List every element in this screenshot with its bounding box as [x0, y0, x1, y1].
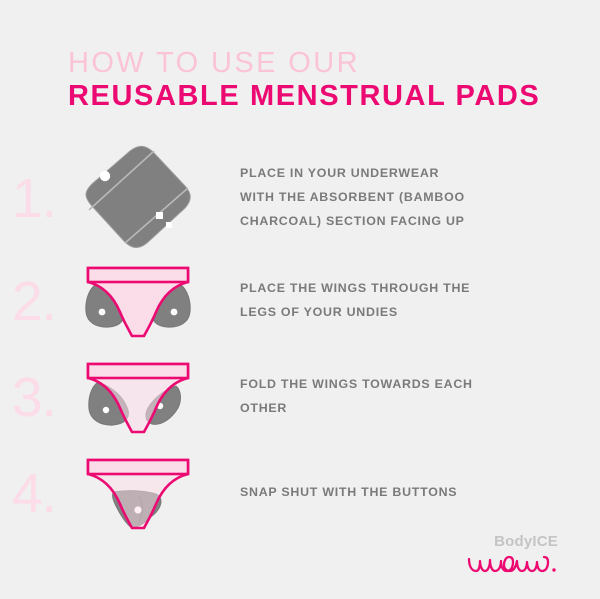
- step-item: 1. PLACE IN YOUR UNDERWEAR WITH THE: [0, 143, 600, 253]
- step-number: 2.: [0, 274, 58, 329]
- step-number: 1.: [0, 171, 58, 226]
- woman-script-icon: [466, 551, 558, 577]
- folded-pad-diamond-icon: [78, 144, 198, 252]
- step-illustration-wings-folding: [58, 349, 218, 445]
- undies-wings-folding-icon: [76, 356, 200, 438]
- step-illustration-wings-open: [58, 253, 218, 349]
- step-item: 3. FOLD THE WINGS TOWARDS EACH OTHE: [0, 349, 600, 445]
- steps-list: 1. PLACE IN YOUR UNDERWEAR WITH THE: [0, 143, 600, 541]
- brand-name: BodyICE: [466, 534, 558, 551]
- title-line-1: HOW TO USE OUR: [68, 48, 540, 78]
- step-illustration-wings-snapped: [58, 445, 218, 541]
- step-text-line: PLACE IN YOUR UNDERWEAR: [240, 162, 580, 186]
- step-text-line: PLACE THE WINGS THROUGH THE: [240, 277, 580, 301]
- step-text-line: WITH THE ABSORBENT (BAMBOO: [240, 186, 580, 210]
- step-text: PLACE IN YOUR UNDERWEAR WITH THE ABSORBE…: [218, 162, 600, 233]
- step-text: FOLD THE WINGS TOWARDS EACH OTHER: [218, 373, 600, 421]
- step-item: 4. SNAP SHUT WITH THE BUTTONS: [0, 445, 600, 541]
- step-number: 4.: [0, 466, 58, 521]
- brand-script-wordmark: [466, 551, 558, 577]
- undies-wings-open-icon: [76, 260, 200, 342]
- step-item: 2. PLACE THE WINGS THROUGH THE LEGS: [0, 253, 600, 349]
- step-text-line: OTHER: [240, 397, 580, 421]
- poster-header: HOW TO USE OUR REUSABLE MENSTRUAL PADS: [68, 48, 540, 115]
- step-text-line: SNAP SHUT WITH THE BUTTONS: [240, 481, 580, 505]
- undies-wings-snapped-icon: [76, 452, 200, 534]
- step-text: PLACE THE WINGS THROUGH THE LEGS OF YOUR…: [218, 277, 600, 325]
- step-text: SNAP SHUT WITH THE BUTTONS: [218, 481, 600, 505]
- title-line-2: REUSABLE MENSTRUAL PADS: [68, 78, 540, 114]
- brand-logo: BodyICE: [466, 534, 558, 578]
- step-text-line: CHARCOAL) SECTION FACING UP: [240, 210, 580, 234]
- step-number: 3.: [0, 370, 58, 425]
- infographic-poster: HOW TO USE OUR REUSABLE MENSTRUAL PADS 1…: [0, 0, 600, 599]
- step-text-line: FOLD THE WINGS TOWARDS EACH: [240, 373, 580, 397]
- step-illustration-folded-pad: [58, 143, 218, 253]
- step-text-line: LEGS OF YOUR UNDIES: [240, 301, 580, 325]
